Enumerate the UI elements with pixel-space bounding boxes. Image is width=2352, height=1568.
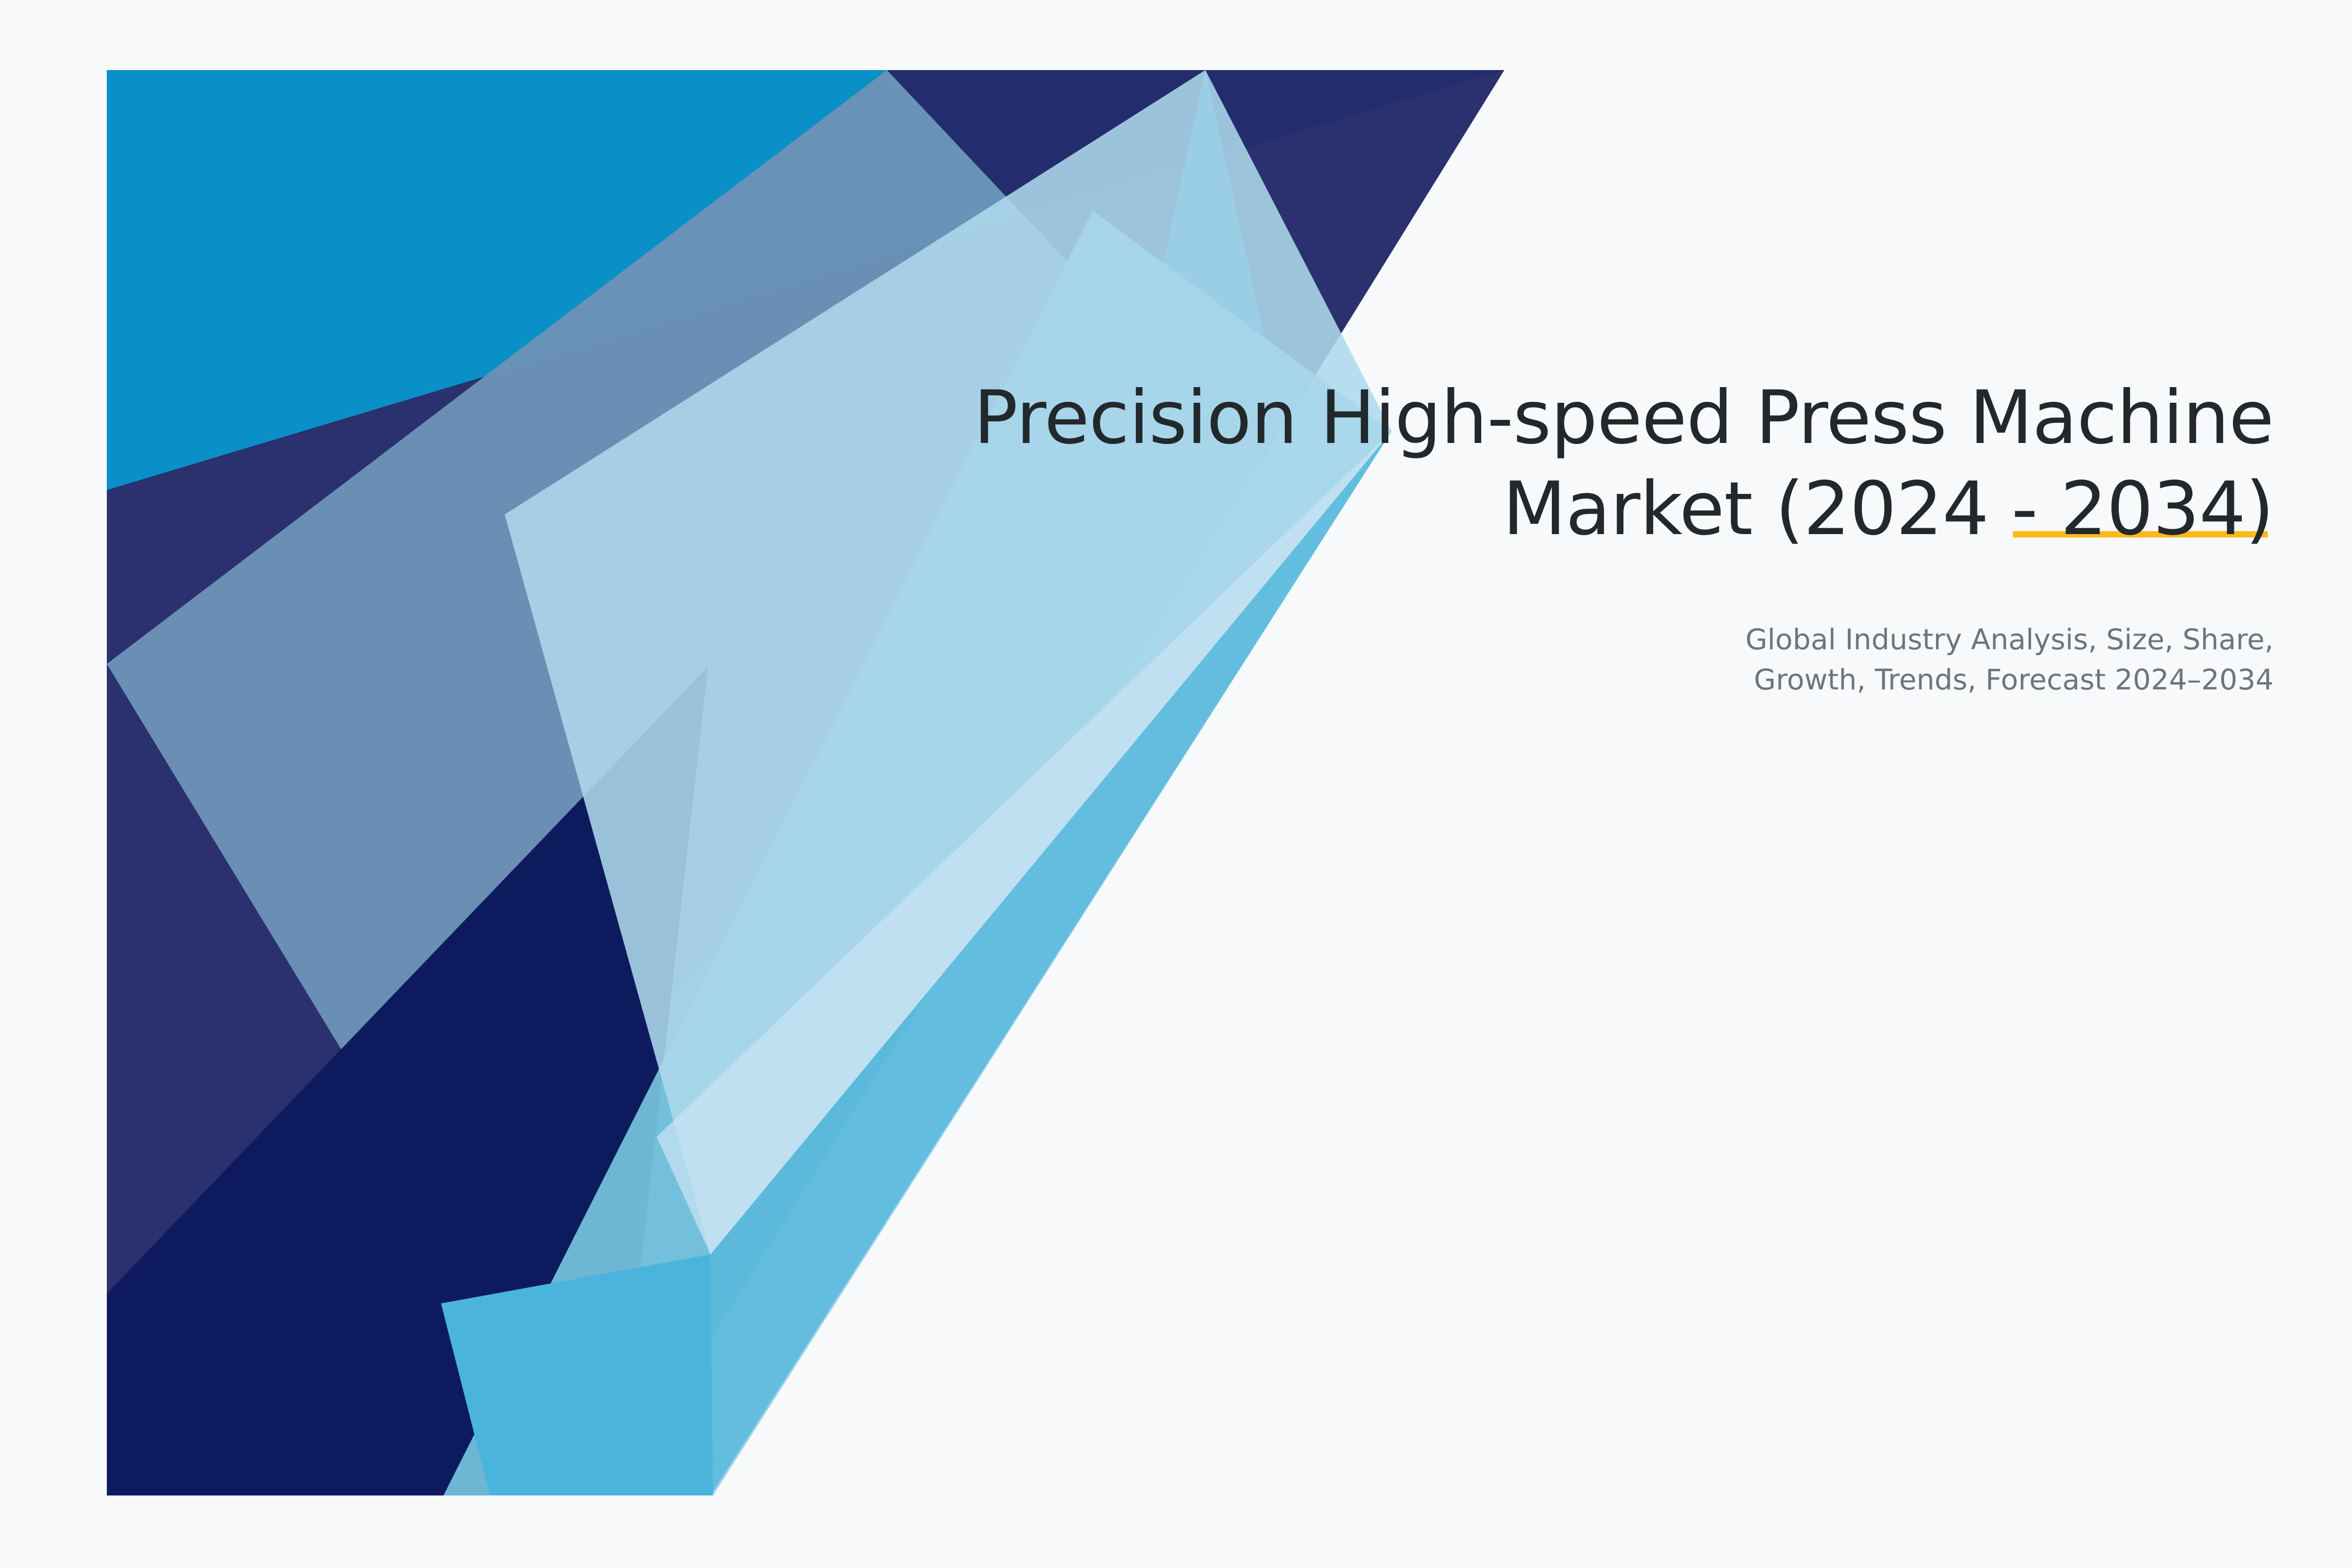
page-subtitle-line-2: Growth, Trends, Forecast 2024–2034 [823,660,2274,700]
page-subtitle: Global Industry Analysis, Size, Share, G… [823,619,2274,700]
page-title-line-1: Precision High-speed Press Machine [823,372,2274,464]
page-subtitle-line-1: Global Industry Analysis, Size, Share, [823,619,2274,660]
cover-page: Precision High-speed Press Machine Marke… [0,0,2352,1568]
abstract-angular-cover-graphic [0,0,2352,1568]
page-title: Precision High-speed Press Machine Marke… [823,372,2274,555]
cover-text-block: Precision High-speed Press Machine Marke… [823,372,2274,700]
page-title-line-2: Market (2024 - 2034) [823,464,2274,555]
